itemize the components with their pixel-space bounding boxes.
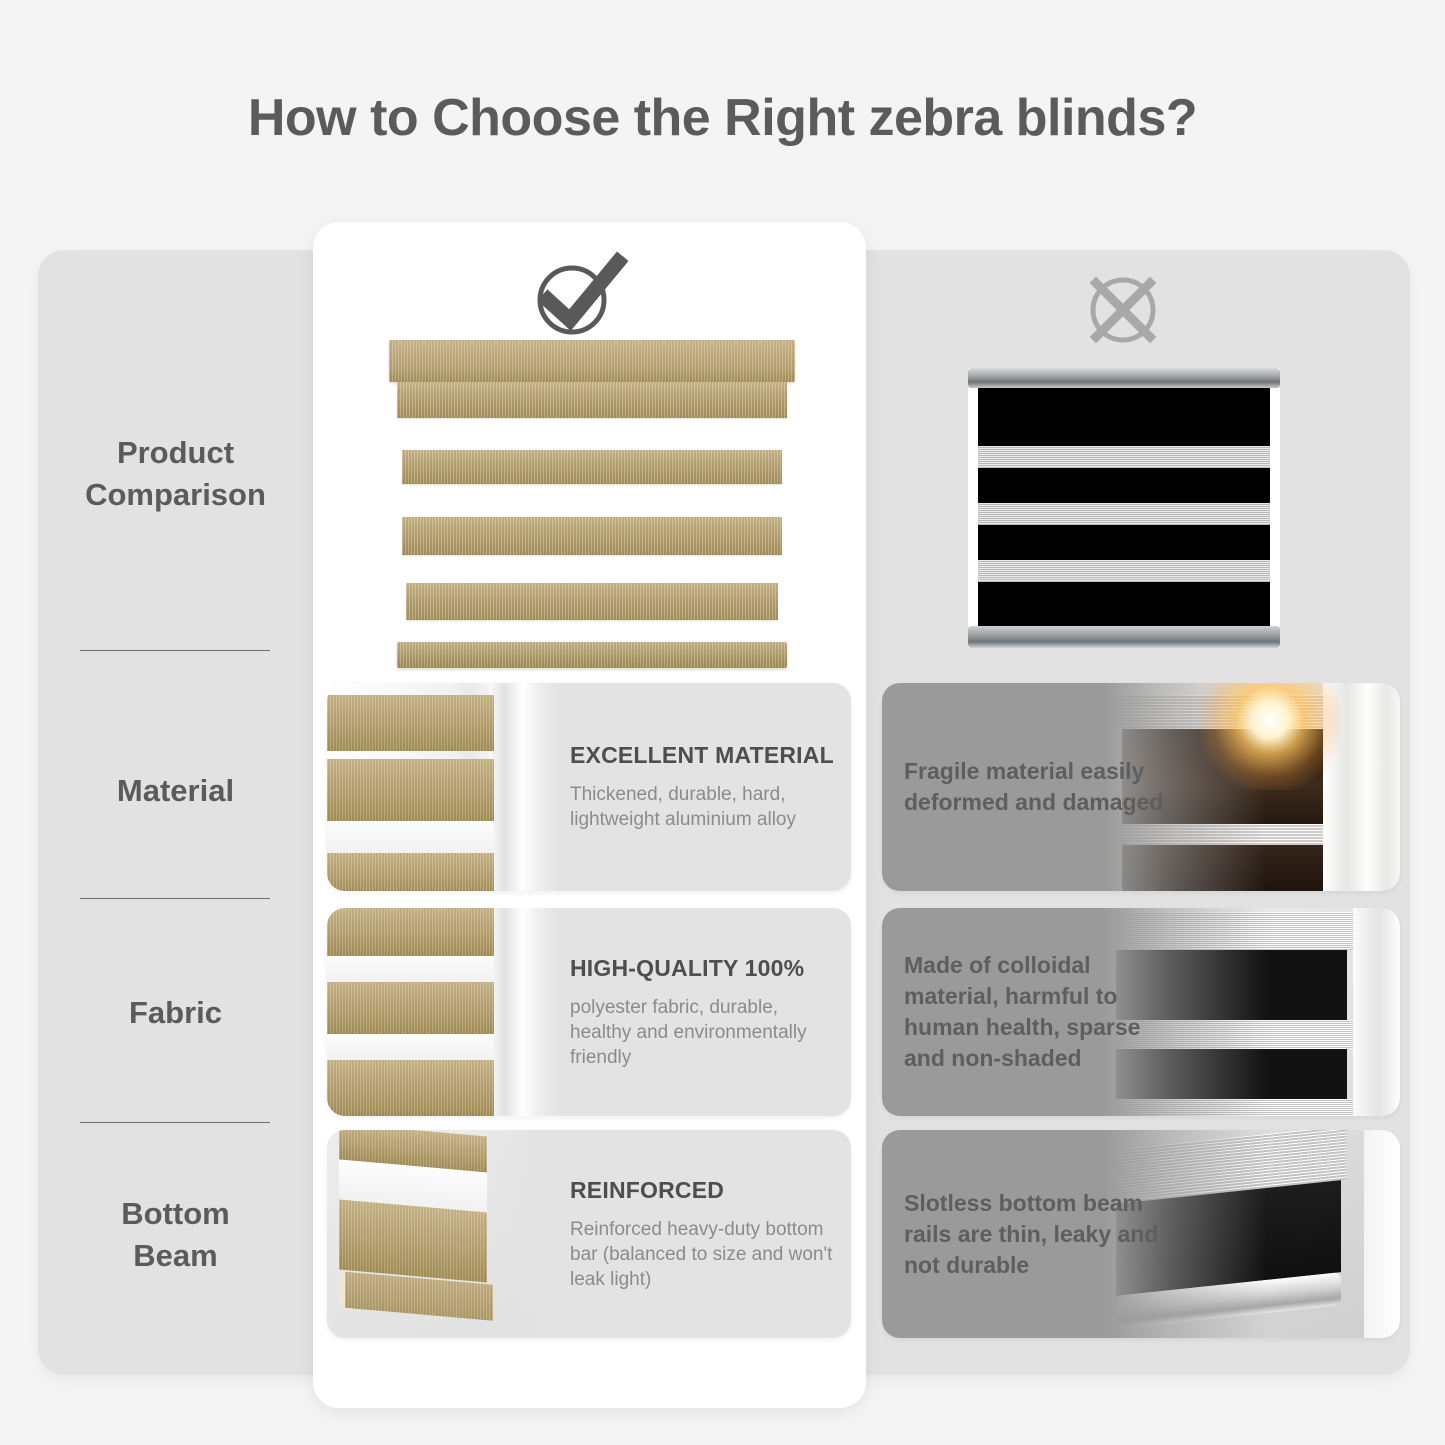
blind-bottom-rail — [968, 626, 1280, 648]
blind-bottom-bar — [397, 642, 787, 668]
bad-card-material: Fragile material easily deformed and dam… — [882, 683, 1400, 891]
bad-card-text: Slotless bottom beam rails are thin, lea… — [904, 1130, 1164, 1338]
tan-blind-fabric-photo — [327, 908, 559, 1116]
blind-sheer-stripe — [327, 956, 494, 982]
tan-blind-window-photo — [327, 683, 559, 891]
row-label-product-comparison: Product Comparison — [38, 432, 313, 516]
sun-flare-icon — [1200, 683, 1340, 790]
blind-slat — [402, 517, 782, 555]
blind-slat — [406, 583, 778, 620]
row-label-line1: Bottom — [38, 1193, 313, 1235]
good-card-fabric: HIGH-QUALITY 100% polyester fabric, dura… — [327, 908, 851, 1116]
good-card-bottom-beam: REINFORCED Reinforced heavy-duty bottom … — [327, 1130, 851, 1338]
bad-card-bottom-beam: Slotless bottom beam rails are thin, lea… — [882, 1130, 1400, 1338]
blind-slat — [397, 382, 787, 418]
card-body: Thickened, durable, hard, lightweight al… — [570, 782, 840, 832]
row-label-line2: Comparison — [38, 474, 313, 516]
blind-headrail — [389, 340, 795, 382]
blind-fabric-body — [978, 388, 1270, 626]
card-heading: EXCELLENT MATERIAL — [570, 742, 840, 769]
bad-card-text: Fragile material easily deformed and dam… — [904, 683, 1164, 891]
blind-sheer-stripe — [978, 446, 1270, 468]
blind-headrail — [968, 368, 1280, 388]
blind-sheer-stripe — [978, 560, 1270, 582]
page-title: How to Choose the Right zebra blinds? — [0, 88, 1445, 148]
card-body: polyester fabric, durable, healthy and e… — [570, 995, 840, 1070]
row-label-column: Product Comparison Material Fabric Botto… — [38, 250, 313, 1375]
good-card-material: EXCELLENT MATERIAL Thickened, durable, h… — [327, 683, 851, 891]
row-divider — [80, 898, 270, 899]
good-card-text: EXCELLENT MATERIAL Thickened, durable, h… — [570, 683, 840, 891]
row-divider — [80, 1122, 270, 1123]
row-label-material: Material — [38, 770, 313, 812]
good-card-text: HIGH-QUALITY 100% polyester fabric, dura… — [570, 908, 840, 1116]
good-card-text: REINFORCED Reinforced heavy-duty bottom … — [570, 1130, 840, 1338]
row-label-line1: Product — [38, 432, 313, 474]
row-divider — [80, 650, 270, 651]
blind-slat — [327, 1060, 494, 1116]
blind-slat — [402, 450, 782, 484]
blind-sheer-stripe — [978, 503, 1270, 525]
blind-slat — [327, 853, 494, 891]
blind-sheer-stripe — [327, 1034, 494, 1060]
check-circle-icon — [528, 248, 628, 345]
blind-slat — [327, 982, 494, 1034]
blind-slat — [327, 695, 494, 751]
bad-card-fabric: Made of colloidal material, harmful to h… — [882, 908, 1400, 1116]
row-label-fabric: Fabric — [38, 992, 313, 1034]
row-label-line2: Beam — [38, 1235, 313, 1277]
row-label-line1: Material — [38, 770, 313, 812]
row-label-bottom-beam: Bottom Beam — [38, 1193, 313, 1277]
window-frame — [489, 908, 559, 1116]
card-heading: HIGH-QUALITY 100% — [570, 955, 840, 982]
blind-slat — [327, 759, 494, 821]
bad-card-text: Made of colloidal material, harmful to h… — [904, 908, 1164, 1116]
cross-circle-icon — [1078, 268, 1168, 357]
blind-sheer-stripe — [327, 821, 494, 853]
row-label-line1: Fabric — [38, 992, 313, 1034]
window-frame — [489, 683, 559, 891]
recommended-zebra-blind-image — [389, 340, 795, 670]
blind-slat — [327, 908, 494, 956]
card-heading: REINFORCED — [570, 1177, 840, 1204]
card-body: Reinforced heavy-duty bottom bar (balanc… — [570, 1217, 840, 1292]
not-recommended-zebra-blind-image — [968, 368, 1280, 648]
blind-slat — [339, 1200, 487, 1283]
tan-bottom-bar-photo — [327, 1130, 559, 1338]
